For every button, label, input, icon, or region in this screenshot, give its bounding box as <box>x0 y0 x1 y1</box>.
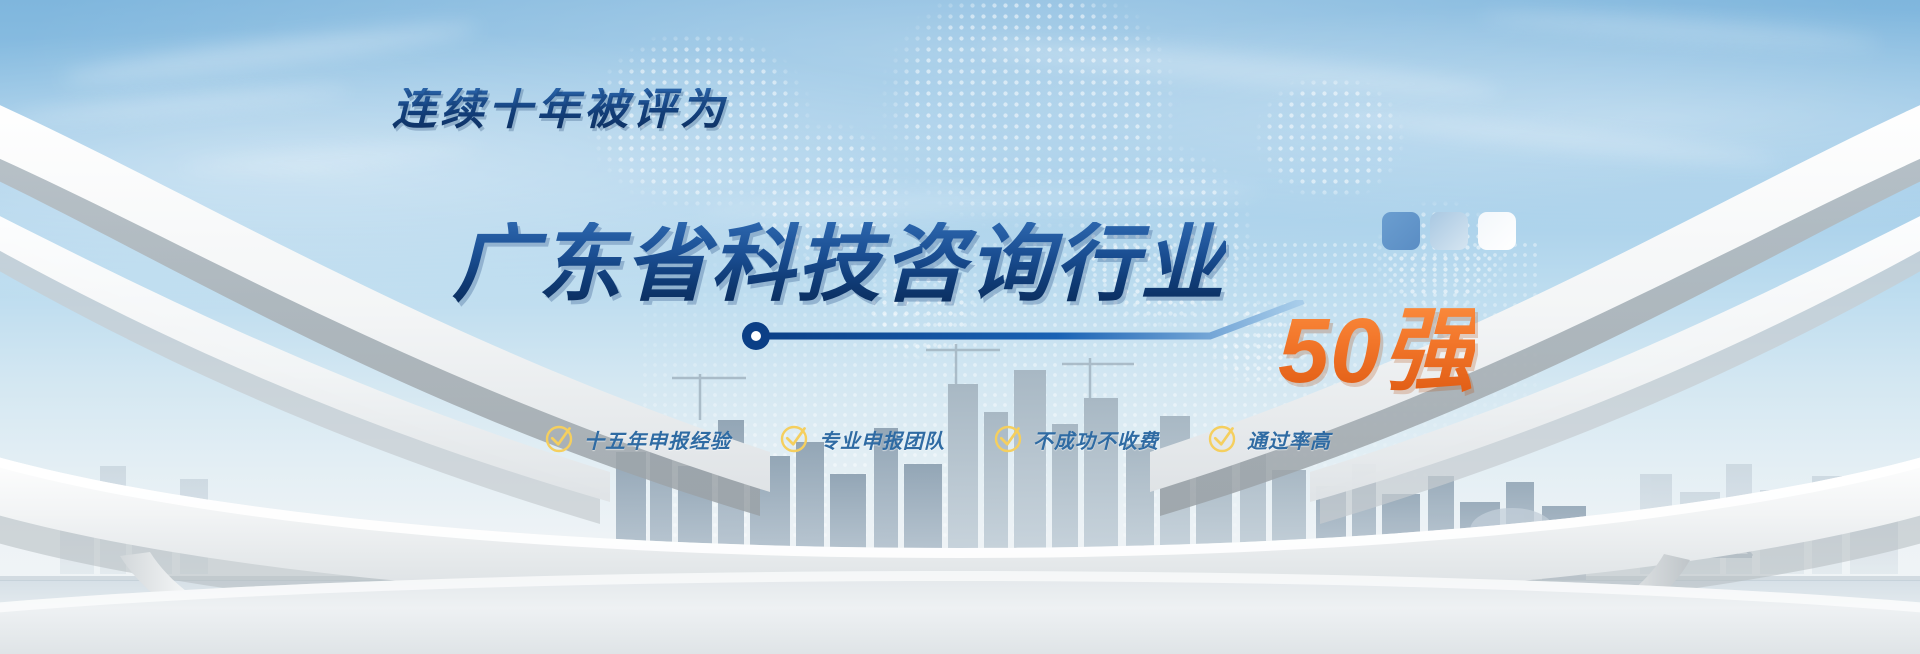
check-circle-icon <box>993 424 1023 454</box>
feature-item: 专业申报团队 <box>779 424 945 454</box>
rank-badge: 50强 <box>1278 305 1475 397</box>
copy-block: 连续十年被评为 广东省科技咨询行业 50强 十五年申报经验 专业申报团队 <box>0 0 1920 654</box>
feature-label: 通过率高 <box>1247 425 1331 454</box>
promo-banner: 连续十年被评为 广东省科技咨询行业 50强 十五年申报经验 专业申报团队 <box>0 0 1920 654</box>
check-circle-icon <box>544 424 574 454</box>
check-circle-icon <box>779 424 809 454</box>
feature-item: 不成功不收费 <box>993 424 1159 454</box>
chip-row <box>1382 212 1516 250</box>
feature-item: 通过率高 <box>1207 424 1331 454</box>
feature-item: 十五年申报经验 <box>544 424 731 454</box>
kicker-text: 连续十年被评为 <box>392 88 728 132</box>
chip-mid-blue <box>1430 212 1468 250</box>
chip-white <box>1478 212 1516 250</box>
feature-label: 不成功不收费 <box>1033 425 1159 454</box>
feature-label: 十五年申报经验 <box>584 425 731 454</box>
connector-dot-center <box>751 331 761 341</box>
chip-solid-blue <box>1382 212 1420 250</box>
feature-label: 专业申报团队 <box>819 425 945 454</box>
headline-text: 广东省科技咨询行业 <box>452 222 1226 306</box>
check-circle-icon <box>1207 424 1237 454</box>
feature-list: 十五年申报经验 专业申报团队 不成功不收费 <box>544 424 1331 454</box>
connector-line <box>740 300 1360 390</box>
